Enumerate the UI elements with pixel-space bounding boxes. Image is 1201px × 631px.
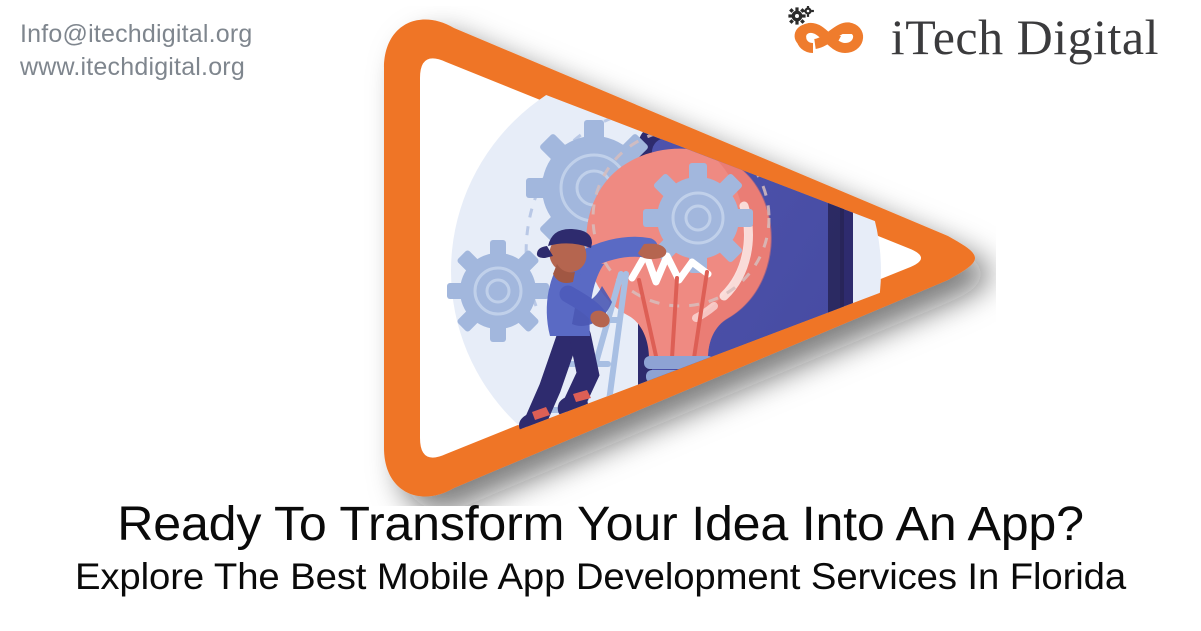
headline-block: Ready To Transform Your Idea Into An App… xyxy=(0,498,1201,598)
contact-website[interactable]: www.itechdigital.org xyxy=(20,51,252,84)
banner-canvas: Info@itechdigital.org www.itechdigital.o… xyxy=(0,0,1201,631)
contact-email[interactable]: Info@itechdigital.org xyxy=(20,18,252,51)
page-subtitle: Explore The Best Mobile App Development … xyxy=(0,555,1201,599)
contact-info: Info@itechdigital.org www.itechdigital.o… xyxy=(20,18,252,83)
play-triangle-illustration-svg xyxy=(336,6,996,506)
hero-illustration xyxy=(336,6,996,506)
gear-small-left-icon xyxy=(447,240,549,342)
page-title: Ready To Transform Your Idea Into An App… xyxy=(0,498,1201,552)
